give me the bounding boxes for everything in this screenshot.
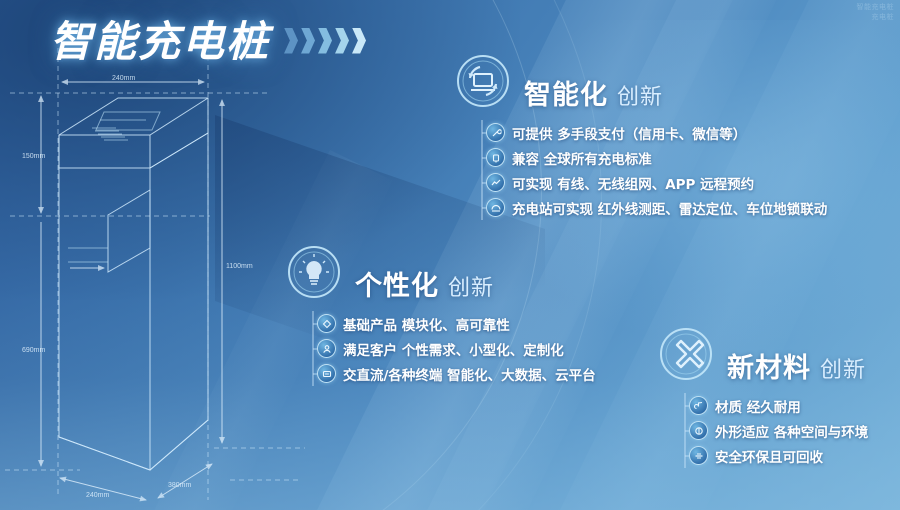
chevron-right-icon-1 bbox=[284, 28, 298, 54]
bullet-item: 交直流/各种终端 智能化、大数据、云平台 bbox=[317, 361, 596, 386]
radar-icon bbox=[486, 198, 505, 217]
bullet-item: 安全环保且可回收 bbox=[689, 443, 868, 468]
section-title-sub: 创新 bbox=[617, 79, 663, 111]
bullet-text: 充电站可实现 红外线测距、雷达定位、车位地锁联动 bbox=[512, 198, 827, 218]
plug-icon bbox=[486, 148, 505, 167]
bullet-text: 外形适应 各种空间与环境 bbox=[715, 421, 868, 441]
section-title-personalization: 个性化 创新 bbox=[355, 264, 494, 305]
section-new-material: 新材料 创新 材质 经久耐用 外形适 bbox=[655, 325, 868, 468]
material-icon bbox=[689, 396, 708, 415]
chevron-right-icon-2 bbox=[301, 28, 315, 54]
bullet-text: 可提供 多手段支付（信用卡、微信等） bbox=[512, 123, 746, 143]
bullet-text: 材质 经久耐用 bbox=[715, 396, 801, 416]
wrench-icon bbox=[486, 123, 505, 142]
section-header-new-material: 新材料 创新 bbox=[655, 325, 868, 387]
dim-label-depth-base: 240mm bbox=[86, 492, 110, 499]
user-icon bbox=[317, 339, 336, 358]
dim-label-width-base: 380mm bbox=[168, 482, 192, 489]
bullet-item: 兼容 全球所有充电标准 bbox=[486, 145, 827, 170]
bullet-text: 兼容 全球所有充电标准 bbox=[512, 148, 652, 168]
chevron-arrows bbox=[284, 28, 366, 54]
molecule-cross-icon bbox=[655, 325, 717, 387]
watermark: 智能充电桩 充电桩 bbox=[857, 3, 895, 23]
lightbulb-icon bbox=[283, 243, 345, 305]
infographic-canvas: 智能充电桩 充电桩 .sl{fill:none;stroke:#cfe9fb;s… bbox=[0, 0, 900, 510]
chevron-right-icon-4 bbox=[335, 28, 349, 54]
bullet-text: 安全环保且可回收 bbox=[715, 446, 823, 466]
bullet-item: 可提供 多手段支付（信用卡、微信等） bbox=[486, 120, 827, 145]
dim-label-height-total: 1100mm bbox=[226, 263, 253, 270]
watermark-line-2: 充电桩 bbox=[857, 13, 895, 23]
bullet-list-new-material: 材质 经久耐用 外形适应 各种空间与环境 安全环保且可回收 bbox=[677, 393, 868, 468]
bullet-list-personalization: 基础产品 模块化、高可靠性 满足客户 个性需求、小型化、定制化 交直流/各种终端… bbox=[305, 311, 596, 386]
laptop-refresh-icon bbox=[452, 52, 514, 114]
section-title-sub: 创新 bbox=[820, 352, 866, 384]
bullet-text: 基础产品 模块化、高可靠性 bbox=[343, 314, 510, 334]
section-header-intelligence: 智能化 创新 bbox=[452, 52, 827, 114]
bullet-text: 满足客户 个性需求、小型化、定制化 bbox=[343, 339, 564, 359]
terminal-icon bbox=[317, 364, 336, 383]
section-title-intelligence: 智能化 创新 bbox=[524, 73, 663, 114]
bullet-item: 可实现 有线、无线组网、APP 远程预约 bbox=[486, 170, 827, 195]
section-header-personalization: 个性化 创新 bbox=[283, 243, 596, 305]
dim-label-width-top: 240mm bbox=[112, 75, 136, 82]
chevron-right-icon-5 bbox=[352, 28, 366, 54]
page-title-block: 智能充电桩 bbox=[50, 8, 366, 69]
bullet-item: 材质 经久耐用 bbox=[689, 393, 868, 418]
module-icon bbox=[317, 314, 336, 333]
recycle-icon bbox=[689, 446, 708, 465]
watermark-line-1: 智能充电桩 bbox=[857, 3, 895, 13]
bullet-text: 交直流/各种终端 智能化、大数据、云平台 bbox=[343, 364, 596, 384]
section-title-main: 新材料 bbox=[727, 346, 811, 385]
bullet-item: 满足客户 个性需求、小型化、定制化 bbox=[317, 336, 596, 361]
section-intelligence: 智能化 创新 可提供 多手段支付（信用卡、微信等） bbox=[452, 52, 827, 220]
dim-label-height-screen: 150mm bbox=[22, 153, 46, 160]
section-title-new-material: 新材料 创新 bbox=[727, 346, 866, 387]
network-icon bbox=[486, 173, 505, 192]
bullet-item: 外形适应 各种空间与环境 bbox=[689, 418, 868, 443]
page-title: 智能充电桩 bbox=[50, 8, 270, 69]
chevron-right-icon-3 bbox=[318, 28, 332, 54]
bullet-text: 可实现 有线、无线组网、APP 远程预约 bbox=[512, 173, 754, 193]
section-personalization: 个性化 创新 基础产品 模块化、高可靠性 bbox=[283, 243, 596, 386]
bullet-item: 充电站可实现 红外线测距、雷达定位、车位地锁联动 bbox=[486, 195, 827, 220]
section-title-main: 智能化 bbox=[524, 73, 608, 112]
bullet-item: 基础产品 模块化、高可靠性 bbox=[317, 311, 596, 336]
adapt-icon bbox=[689, 421, 708, 440]
bullet-list-intelligence: 可提供 多手段支付（信用卡、微信等） 兼容 全球所有充电标准 可实现 有线、无线… bbox=[474, 120, 827, 220]
dim-label-height-body: 690mm bbox=[22, 347, 46, 354]
section-title-main: 个性化 bbox=[355, 264, 439, 303]
section-title-sub: 创新 bbox=[448, 270, 494, 302]
